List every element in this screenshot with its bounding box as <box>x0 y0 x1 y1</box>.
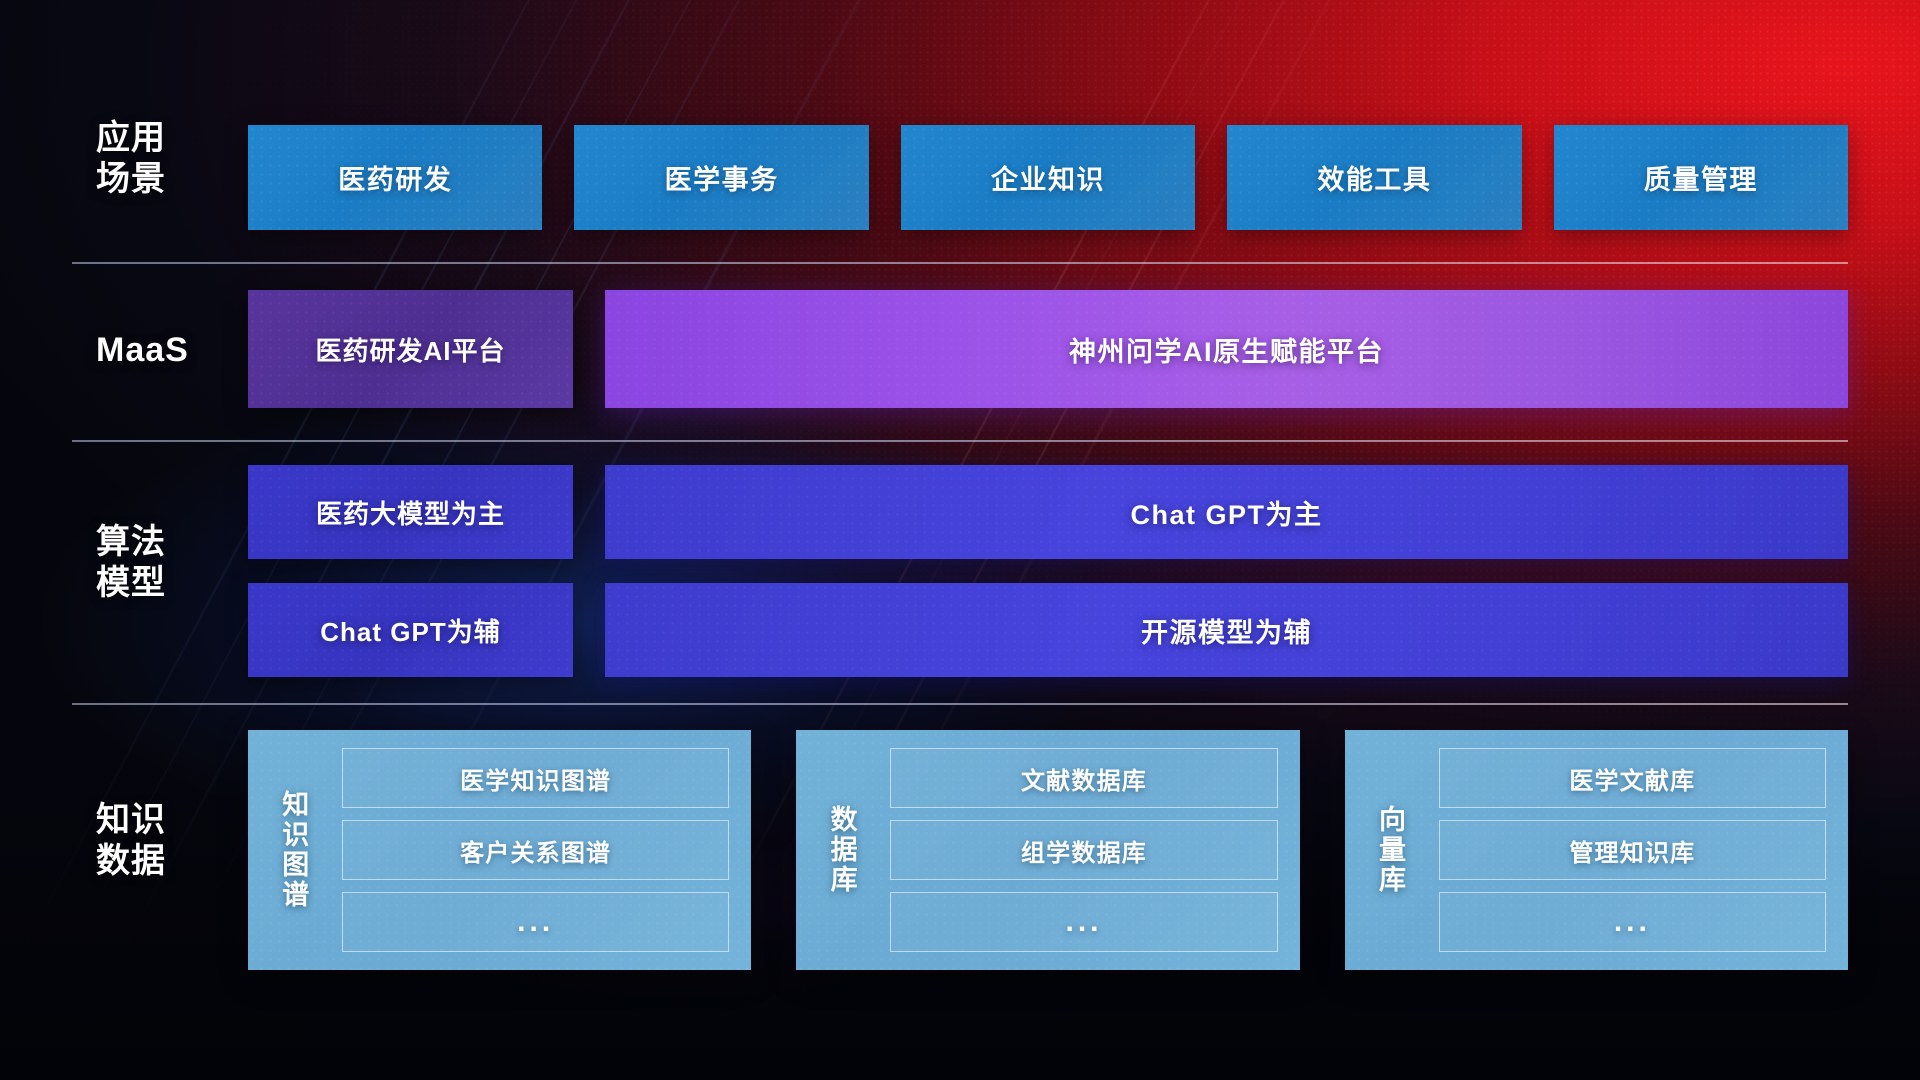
maas-pharma-platform-label: 医药研发AI平台 <box>315 331 505 368</box>
knowledge-graph-panel-title: 知识图谱 <box>262 748 324 952</box>
algorithm-label: 开源模型为辅 <box>1141 611 1312 650</box>
algorithm-label: 医药大模型为主 <box>316 494 505 531</box>
row-label-maas: MaaS <box>96 330 226 371</box>
row-label-application: 应用 场景 <box>96 118 226 201</box>
database-item-label: 文献数据库 <box>1021 761 1147 796</box>
vector-store-item-label: 管理知识库 <box>1569 833 1695 868</box>
row-label-algorithm: 算法 模型 <box>96 522 226 605</box>
knowledge-data-row: 知识图谱 医学知识图谱 客户关系图谱 ... 数据库 文献数据库 <box>248 730 1848 970</box>
algorithm-secondary-left-box[interactable]: Chat GPT为辅 <box>248 583 573 677</box>
algorithm-line: Chat GPT为辅 开源模型为辅 <box>248 583 1848 677</box>
vector-store-item-more[interactable]: ... <box>1439 892 1826 952</box>
vector-store-item[interactable]: 医学文献库 <box>1439 748 1826 808</box>
database-item[interactable]: 组学数据库 <box>890 820 1277 880</box>
vector-store-item-label: ... <box>1614 905 1651 939</box>
app-scenario-box[interactable]: 医药研发 <box>248 125 542 230</box>
app-scenario-label: 质量管理 <box>1644 158 1758 197</box>
section-divider <box>72 703 1848 705</box>
section-divider <box>72 440 1848 442</box>
database-item-more[interactable]: ... <box>890 892 1277 952</box>
app-scenario-box[interactable]: 质量管理 <box>1554 125 1848 230</box>
knowledge-graph-panel: 知识图谱 医学知识图谱 客户关系图谱 ... <box>248 730 751 970</box>
database-item-label: ... <box>1065 905 1102 939</box>
database-panel: 数据库 文献数据库 组学数据库 ... <box>796 730 1299 970</box>
algorithm-model-row: 医药大模型为主 Chat GPT为主 Chat GPT为辅 开源模型为辅 <box>248 465 1848 677</box>
section-divider <box>72 262 1848 264</box>
database-panel-title: 数据库 <box>810 748 872 952</box>
vector-store-panel-title: 向量库 <box>1359 748 1421 952</box>
knowledge-graph-item[interactable]: 医学知识图谱 <box>342 748 729 808</box>
app-scenario-box[interactable]: 医学事务 <box>574 125 868 230</box>
row-label-knowledge: 知识 数据 <box>96 800 226 883</box>
database-item[interactable]: 文献数据库 <box>890 748 1277 808</box>
app-scenario-label: 效能工具 <box>1317 158 1431 197</box>
knowledge-graph-item-label: 医学知识图谱 <box>460 761 611 796</box>
app-scenario-label: 企业知识 <box>991 158 1105 197</box>
vector-store-item[interactable]: 管理知识库 <box>1439 820 1826 880</box>
knowledge-graph-item-label: 客户关系图谱 <box>460 833 611 868</box>
app-scenario-box[interactable]: 企业知识 <box>901 125 1195 230</box>
maas-pharma-platform-box[interactable]: 医药研发AI平台 <box>248 290 573 408</box>
database-item-label: 组学数据库 <box>1021 833 1147 868</box>
algorithm-secondary-right-box[interactable]: 开源模型为辅 <box>605 583 1848 677</box>
algorithm-label: Chat GPT为辅 <box>320 612 500 649</box>
application-scenario-row: 医药研发 医学事务 企业知识 效能工具 质量管理 <box>248 125 1848 230</box>
algorithm-line: 医药大模型为主 Chat GPT为主 <box>248 465 1848 559</box>
knowledge-graph-item[interactable]: 客户关系图谱 <box>342 820 729 880</box>
maas-enablement-platform-box[interactable]: 神州问学AI原生赋能平台 <box>605 290 1848 408</box>
algorithm-label: Chat GPT为主 <box>1130 493 1322 532</box>
vector-store-item-list: 医学文献库 管理知识库 ... <box>1439 748 1826 952</box>
vector-store-item-label: 医学文献库 <box>1569 761 1695 796</box>
knowledge-graph-item-list: 医学知识图谱 客户关系图谱 ... <box>342 748 729 952</box>
maas-row: 医药研发AI平台 神州问学AI原生赋能平台 <box>248 290 1848 408</box>
architecture-diagram: 应用 场景 医药研发 医学事务 企业知识 效能工具 质量管理 MaaS 医药研发… <box>0 0 1920 1080</box>
maas-enablement-platform-label: 神州问学AI原生赋能平台 <box>1069 330 1384 369</box>
app-scenario-label: 医学事务 <box>665 158 779 197</box>
algorithm-primary-right-box[interactable]: Chat GPT为主 <box>605 465 1848 559</box>
app-scenario-box[interactable]: 效能工具 <box>1227 125 1521 230</box>
knowledge-graph-item-label: ... <box>517 905 554 939</box>
algorithm-primary-left-box[interactable]: 医药大模型为主 <box>248 465 573 559</box>
database-item-list: 文献数据库 组学数据库 ... <box>890 748 1277 952</box>
app-scenario-label: 医药研发 <box>338 158 452 197</box>
vector-store-panel: 向量库 医学文献库 管理知识库 ... <box>1345 730 1848 970</box>
knowledge-graph-item-more[interactable]: ... <box>342 892 729 952</box>
